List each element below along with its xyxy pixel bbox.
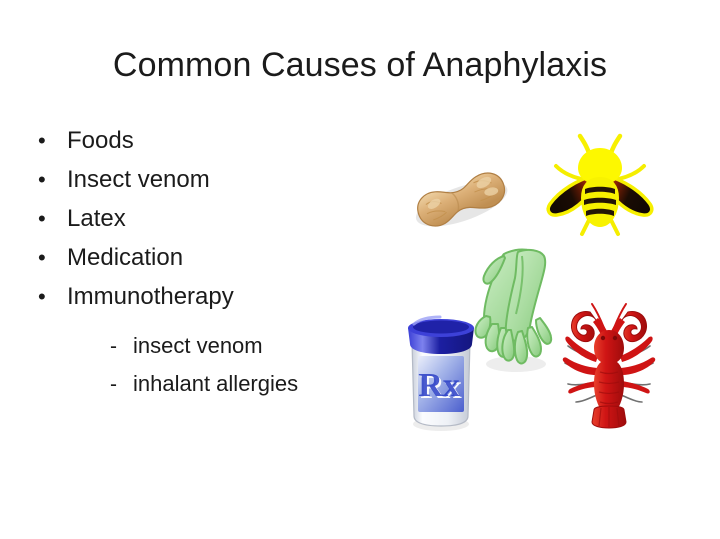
peanut-image [405,160,517,240]
bullet-dot-icon: • [38,286,67,308]
list-item: • Latex [38,205,388,244]
list-item-label: Foods [67,127,134,155]
rx-bottle-image: Rx Rx [402,312,480,432]
list-item-label: Immunotherapy [67,283,234,311]
lobster-image [560,302,658,430]
sub-list-item-label: inhalant allergies [133,371,298,397]
list-item: • Foods [38,127,388,166]
dash-marker-icon: - [110,336,133,357]
wasp-image [540,128,660,240]
bullet-dot-icon: • [38,247,67,269]
list-item: • Medication [38,244,388,283]
rx-label-text-shadow: Rx [418,367,460,404]
list-item-label: Medication [67,244,183,272]
latex-gloves-image [474,242,554,374]
bullet-dot-icon: • [38,169,67,191]
sub-bullet-list: - insect venom - inhalant allergies [110,333,430,409]
bullet-list: • Foods • Insect venom • Latex • Medicat… [38,127,388,322]
dash-marker-icon: - [110,374,133,395]
list-item: • Immunotherapy [38,283,388,322]
page-title: Common Causes of Anaphylaxis [0,44,720,86]
bullet-dot-icon: • [38,130,67,152]
bullet-dot-icon: • [38,208,67,230]
sub-list-item: - insect venom [110,333,430,371]
list-item: • Insect venom [38,166,388,205]
slide-canvas: Common Causes of Anaphylaxis • Foods • I… [0,0,720,539]
list-item-label: Latex [67,205,126,233]
sub-list-item: - inhalant allergies [110,371,430,409]
sub-list-item-label: insect venom [133,333,263,359]
list-item-label: Insect venom [67,166,210,194]
